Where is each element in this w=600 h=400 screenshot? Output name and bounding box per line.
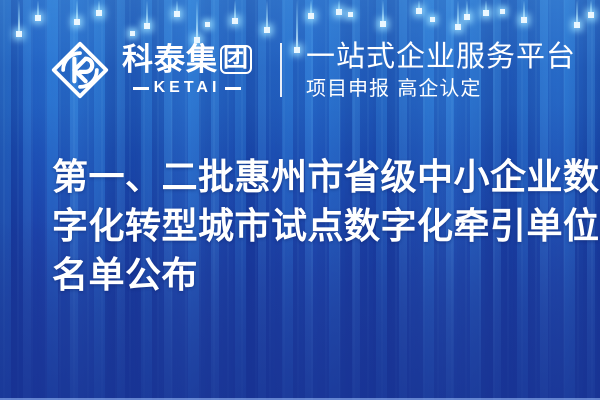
promo-banner: 科泰集 团 KETAI 一站式企业服务平台 项目申报 高企认定 第一、二批惠州市…	[0, 0, 600, 400]
banner-header: 科泰集 团 KETAI 一站式企业服务平台 项目申报 高企认定	[0, 0, 600, 140]
headline-line-1: 第一、二批惠州市省级中小企业数	[52, 152, 572, 201]
brand-name-cn: 科泰集 团	[122, 44, 252, 75]
brand-name-cn-boxed: 团	[220, 45, 252, 74]
brand-tagline: 一站式企业服务平台 项目申报 高企认定	[306, 41, 576, 99]
header-divider	[280, 43, 282, 97]
brand-name-en-text: KETAI	[154, 80, 221, 96]
brand-logo[interactable]: 科泰集 团 KETAI	[50, 40, 252, 100]
tagline-secondary: 项目申报 高企认定	[306, 78, 576, 99]
headline-line-2: 字化转型城市试点数字化牵引单位	[52, 201, 572, 250]
tagline-primary: 一站式企业服务平台	[306, 41, 576, 71]
wordmark-dash-right	[225, 87, 241, 90]
brand-name-cn-head: 科泰集	[122, 44, 218, 75]
brand-wordmark: 科泰集 团 KETAI	[122, 44, 252, 96]
brand-name-en: KETAI	[122, 80, 252, 96]
wordmark-dash-left	[133, 87, 149, 90]
headline-line-3: 名单公布	[52, 250, 572, 299]
ketai-diamond-kd-monogram-icon	[50, 40, 110, 100]
headline-block: 第一、二批惠州市省级中小企业数 字化转型城市试点数字化牵引单位 名单公布	[52, 152, 572, 299]
